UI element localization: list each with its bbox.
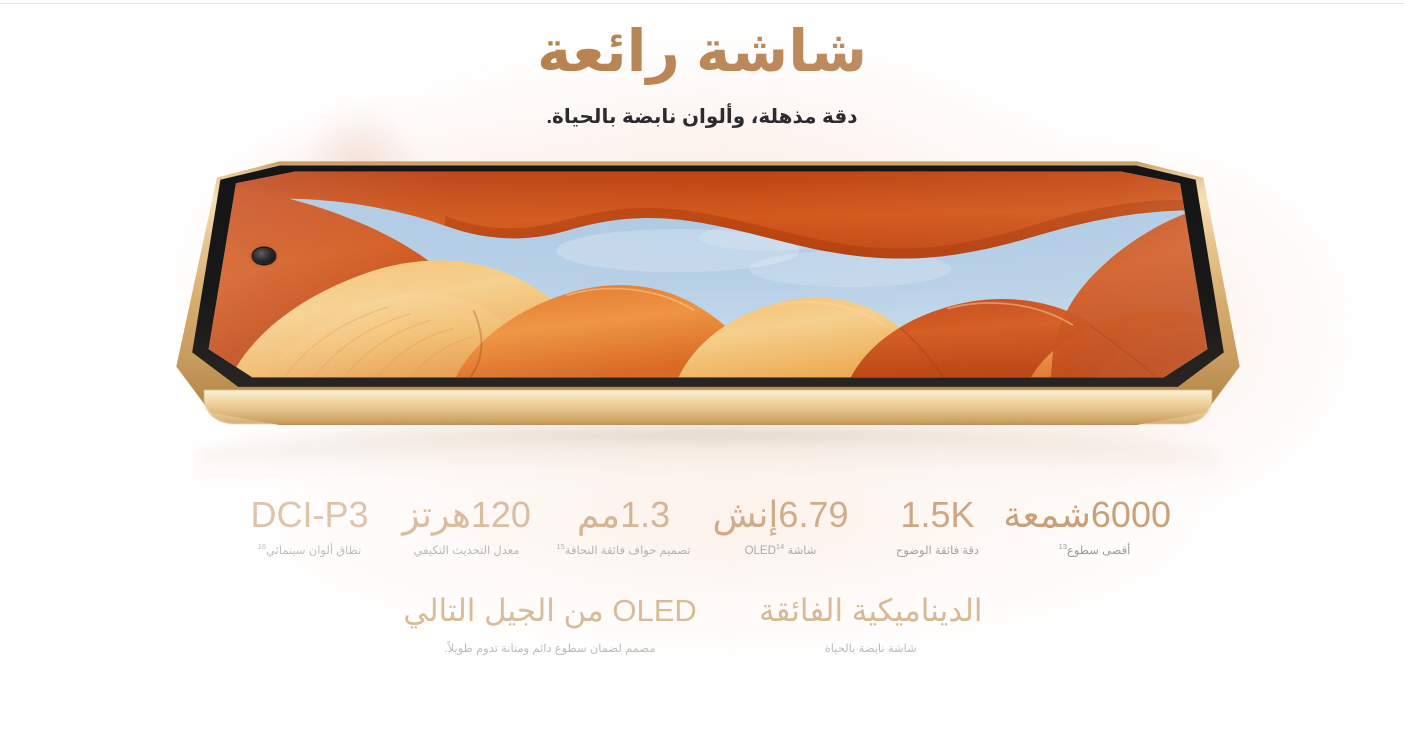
feature-next-gen-oled-title: OLED من الجيل التالي [403, 592, 697, 631]
phone-device [172, 156, 1244, 426]
feature-high-dynamic-caption: شاشة نابضة بالحياة [741, 642, 1001, 658]
canyon-wallpaper-icon [202, 171, 1215, 378]
page-title: شاشة رائعة [0, 18, 1404, 86]
phone-screen [202, 171, 1215, 378]
device-contact-shadow [240, 426, 1180, 442]
spec-row: 6000شمعة أقصى سطوع13 1.5K دقة فائقة الوض… [0, 494, 1404, 559]
front-camera-icon [253, 248, 275, 264]
spec-refresh-rate-value: 120هرتز [390, 494, 543, 536]
page-subtitle: دقة مذهلة، وألوان نابضة بالحياة. [0, 104, 1404, 129]
spec-screen-size-label: شاشة OLED14 [704, 544, 857, 559]
spec-resolution-value: 1.5K [861, 494, 1014, 536]
spec-screen-size-footnote: 14 [776, 542, 784, 551]
spec-bezel-label: تصميم حواف فائقة النحافة15 [547, 544, 700, 559]
spec-color-gamut-label-text: نطاق ألوان سينمائي [266, 545, 361, 557]
device-stage [0, 150, 1404, 480]
phone-bottom-bezel-band [204, 390, 1212, 424]
spec-refresh-rate-label: معدل التحديث التكيفي [390, 544, 543, 559]
feature-high-dynamic-title: الديناميكية الفائقة [741, 592, 1001, 631]
spec-color-gamut: DCI-P3 نطاق ألوان سينمائي16 [231, 494, 388, 559]
feature-row: الديناميكية الفائقة شاشة نابضة بالحياة O… [0, 592, 1404, 657]
spec-bezel-footnote: 15 [557, 542, 565, 551]
spec-refresh-rate-label-text: معدل التحديث التكيفي [413, 545, 519, 557]
spec-brightness-label-text: أقصى سطوع [1067, 545, 1130, 557]
spec-refresh-rate: 120هرتز معدل التحديث التكيفي [388, 494, 545, 559]
feature-next-gen-oled-caption: مصمم لضمان سطوع دائم ومتانة تدوم طويلاً. [403, 642, 697, 658]
spec-color-gamut-footnote: 16 [258, 542, 266, 551]
spec-color-gamut-label: نطاق ألوان سينمائي16 [233, 544, 386, 559]
spec-brightness-value: 6000شمعة [1018, 494, 1171, 536]
spec-resolution-label: دقة فائقة الوضوح [861, 544, 1014, 559]
top-divider [0, 3, 1404, 4]
spec-brightness-label: أقصى سطوع13 [1018, 544, 1171, 559]
spec-resolution-label-text: دقة فائقة الوضوح [896, 545, 979, 557]
feature-high-dynamic: الديناميكية الفائقة شاشة نابضة بالحياة [741, 592, 1001, 657]
spec-screen-size-value: 6.79إنش [704, 494, 857, 536]
spec-resolution: 1.5K دقة فائقة الوضوح [859, 494, 1016, 559]
display-feature-page: شاشة رائعة دقة مذهلة، وألوان نابضة بالحي… [0, 0, 1404, 742]
phone-black-bezel [186, 164, 1230, 388]
spec-bezel-value: 1.3مم [547, 494, 700, 536]
spec-brightness-footnote: 13 [1059, 542, 1067, 551]
spec-screen-size: 6.79إنش شاشة OLED14 [702, 494, 859, 559]
spec-bezel-label-text: تصميم حواف فائقة النحافة [565, 545, 691, 557]
hero-heading-block: شاشة رائعة دقة مذهلة، وألوان نابضة بالحي… [0, 18, 1404, 129]
spec-brightness: 6000شمعة أقصى سطوع13 [1016, 494, 1173, 559]
feature-next-gen-oled: OLED من الجيل التالي مصمم لضمان سطوع دائ… [403, 592, 697, 657]
spec-color-gamut-value: DCI-P3 [233, 494, 386, 536]
spec-bezel: 1.3مم تصميم حواف فائقة النحافة15 [545, 494, 702, 559]
